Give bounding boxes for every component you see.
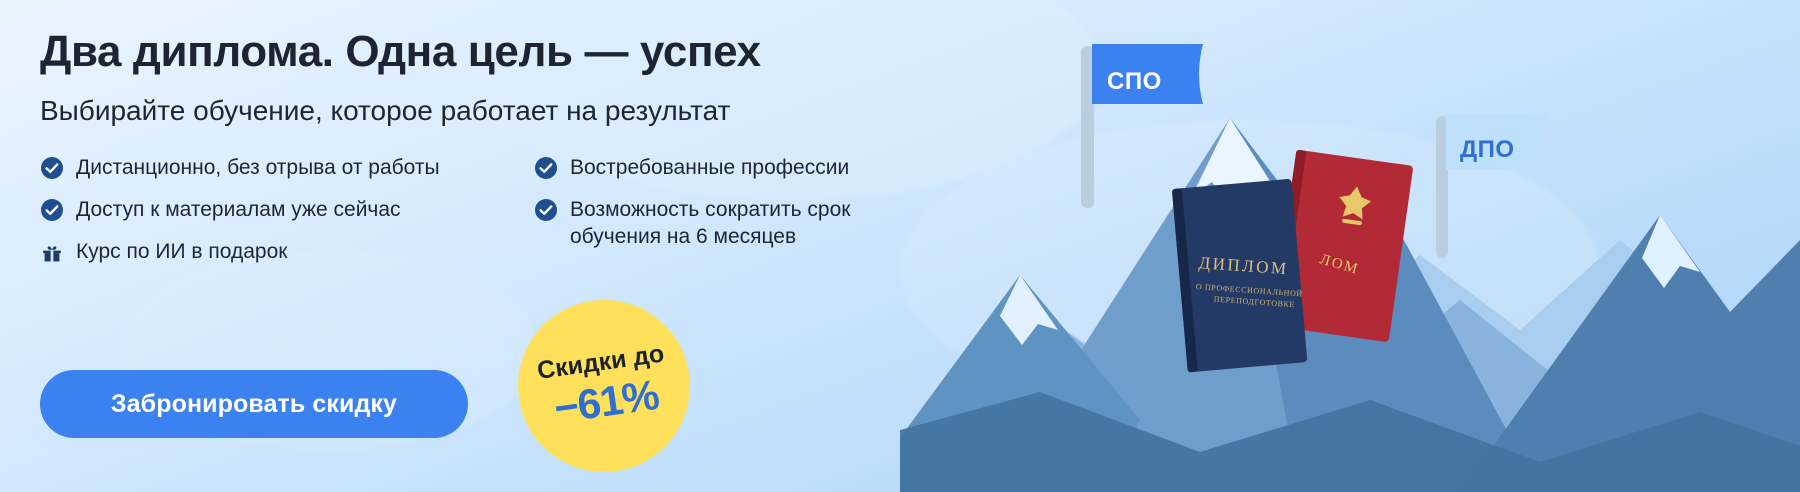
flag-spo-label: СПО xyxy=(1107,68,1162,96)
flag-spo-graphic xyxy=(1075,38,1205,208)
feature-item: Востребованные профессии xyxy=(534,154,934,182)
promo-banner: Два диплома. Одна цель — успех Выбирайте… xyxy=(0,0,1800,492)
feature-column-right: Востребованные профессии Возможность сок… xyxy=(534,154,934,280)
flag-dpo-graphic xyxy=(1430,108,1550,258)
banner-content: Два диплома. Одна цель — успех Выбирайте… xyxy=(40,28,960,280)
feature-label: Дистанционно, без отрыва от работы xyxy=(76,154,440,182)
feature-item: Доступ к материалам уже сейчас xyxy=(40,196,510,224)
check-circle-icon xyxy=(40,198,64,222)
page-subtitle: Выбирайте обучение, которое работает на … xyxy=(40,94,960,128)
feature-label: Курс по ИИ в подарок xyxy=(76,238,287,266)
flag-spo: СПО xyxy=(1075,38,1205,208)
feature-label: Возможность сократить срок обучения на 6… xyxy=(570,196,934,251)
page-title: Два диплома. Одна цель — успех xyxy=(40,28,960,76)
check-circle-icon xyxy=(40,156,64,180)
check-circle-icon xyxy=(534,198,558,222)
feature-item: Курс по ИИ в подарок xyxy=(40,238,510,266)
feature-item: Дистанционно, без отрыва от работы xyxy=(40,154,510,182)
discount-badge[interactable]: Скидки до −61% xyxy=(507,289,701,483)
feature-item: Возможность сократить срок обучения на 6… xyxy=(534,196,934,251)
feature-lists: Дистанционно, без отрыва от работы Досту… xyxy=(40,154,960,280)
flag-dpo-label: ДПО xyxy=(1460,136,1515,164)
flag-dpo: ДПО xyxy=(1430,108,1550,258)
feature-label: Доступ к материалам уже сейчас xyxy=(76,196,401,224)
book-discount-button[interactable]: Забронировать скидку xyxy=(40,370,468,438)
discount-badge-value: −61% xyxy=(551,373,660,429)
gift-icon xyxy=(40,240,64,264)
feature-label: Востребованные профессии xyxy=(570,154,849,182)
feature-column-left: Дистанционно, без отрыва от работы Досту… xyxy=(40,154,510,280)
check-circle-icon xyxy=(534,156,558,180)
